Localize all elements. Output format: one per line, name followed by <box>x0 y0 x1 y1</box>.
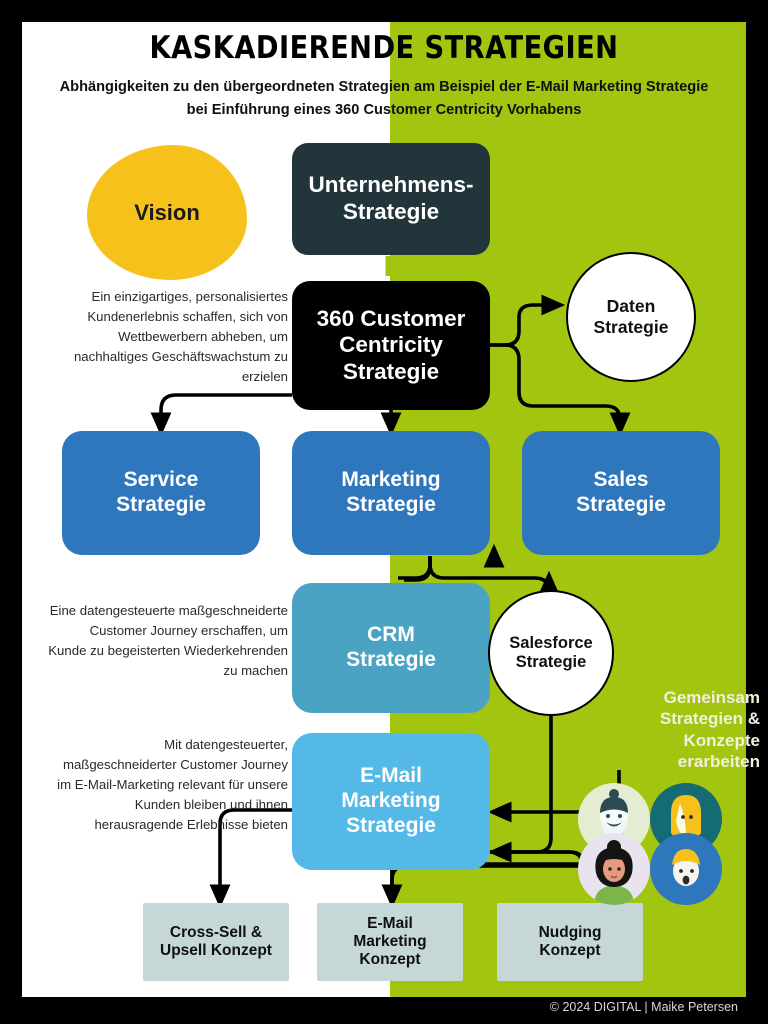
infographic-canvas: KASKADIERENDE STRATEGIEN Abhängigkeiten … <box>0 0 768 1024</box>
avatar-dark-haired-woman <box>578 833 650 905</box>
node-crm-strategie-label: CRMStrategie <box>346 623 436 673</box>
node-service-strategie-label: ServiceStrategie <box>116 468 206 518</box>
page-subtitle: Abhängigkeiten zu den übergeordneten Str… <box>50 76 718 121</box>
node-service-strategie[interactable]: ServiceStrategie <box>62 431 260 555</box>
node-salesforce-strategie[interactable]: SalesforceStrategie <box>488 590 614 716</box>
description-crm: Eine datengesteuerte maßgeschneiderte Cu… <box>48 601 288 681</box>
footer-credit: © 2024 DIGITAL | Maike Petersen <box>0 1000 752 1014</box>
concept-email-marketing-label: E-MailMarketingKonzept <box>353 915 426 970</box>
callout-collaborate: GemeinsamStrategien &Konzepteerarbeiten <box>620 687 760 772</box>
node-unternehmens-strategie-label: Unternehmens-Strategie <box>308 172 473 225</box>
node-daten-strategie[interactable]: DatenStrategie <box>566 252 696 382</box>
concept-nudging-label: NudgingKonzept <box>539 924 602 961</box>
node-email-marketing-strategie-label: E-MailMarketingStrategie <box>341 764 440 838</box>
description-vision: Ein einzigartiges, personalisiertes Kund… <box>48 287 288 387</box>
concept-email-marketing[interactable]: E-MailMarketingKonzept <box>317 903 463 981</box>
node-marketing-strategie-label: MarketingStrategie <box>341 468 440 518</box>
concept-nudging[interactable]: NudgingKonzept <box>497 903 643 981</box>
node-vision[interactable]: Vision <box>87 145 247 280</box>
node-salesforce-strategie-label: SalesforceStrategie <box>509 634 592 673</box>
concept-cross-sell-upsell-label: Cross-Sell &Upsell Konzept <box>160 924 272 961</box>
avatar-blonde-boy <box>650 833 722 905</box>
node-crm-strategie[interactable]: CRMStrategie <box>292 583 490 713</box>
node-sales-strategie[interactable]: SalesStrategie <box>522 431 720 555</box>
node-vision-label: Vision <box>134 200 200 226</box>
avatar-group <box>578 783 730 905</box>
node-daten-strategie-label: DatenStrategie <box>594 296 669 337</box>
node-360-customer-centricity-strategie-label: 360 CustomerCentricityStrategie <box>317 306 466 386</box>
node-360-customer-centricity-strategie[interactable]: 360 CustomerCentricityStrategie <box>292 281 490 410</box>
node-sales-strategie-label: SalesStrategie <box>576 468 666 518</box>
node-email-marketing-strategie[interactable]: E-MailMarketingStrategie <box>292 733 490 870</box>
node-marketing-strategie[interactable]: MarketingStrategie <box>292 431 490 555</box>
page-title: KASKADIERENDE STRATEGIEN <box>65 30 702 66</box>
description-email-marketing: Mit datengesteuerter, maßgeschneiderter … <box>48 735 288 835</box>
node-unternehmens-strategie[interactable]: Unternehmens-Strategie <box>292 143 490 255</box>
concept-cross-sell-upsell[interactable]: Cross-Sell &Upsell Konzept <box>143 903 289 981</box>
